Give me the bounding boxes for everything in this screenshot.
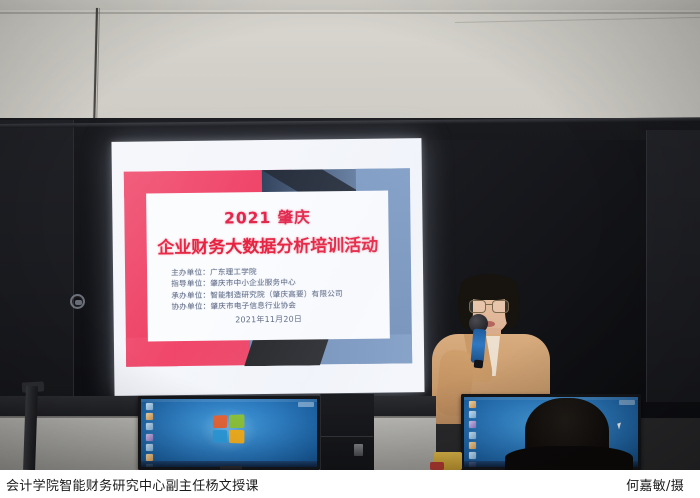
caption-text: 会计学院智能财务研究中心副主任杨文授课 bbox=[6, 475, 259, 494]
cabinet-indicator bbox=[354, 444, 363, 456]
photo-page: 2021 肇庆 企业财务大数据分析培训活动 主办单位：广东理工学院 指导单位：肇… bbox=[0, 0, 700, 498]
projected-slide: 2021 肇庆 企业财务大数据分析培训活动 主办单位：广东理工学院 指导单位：肇… bbox=[111, 138, 424, 396]
glasses-bridge bbox=[485, 304, 493, 305]
seated-attendee-shoulder bbox=[505, 446, 633, 470]
slide-organizer-list: 主办单位：广东理工学院 指导单位：肇庆市中小企业服务中心 承办单位：智能制造研究… bbox=[171, 265, 372, 313]
lecture-hall-photo: 2021 肇庆 企业财务大数据分析培训活动 主办单位：广东理工学院 指导单位：肇… bbox=[0, 0, 700, 470]
slide-title-line-2: 企业财务大数据分析培训活动 bbox=[147, 231, 389, 259]
equipment-cabinet bbox=[320, 394, 374, 470]
slide-title-line-1: 2021 肇庆 bbox=[146, 205, 388, 230]
blackboard-far-right-panel bbox=[646, 130, 700, 402]
organizer-line: 协办单位：肇庆市电子信息行业协会 bbox=[171, 299, 371, 313]
desk-object-red bbox=[430, 462, 444, 470]
slide-date: 2021年11月20日 bbox=[148, 313, 390, 327]
wall-seam bbox=[0, 12, 700, 14]
caption-bar: 会计学院智能财务研究中心副主任杨文授课 何嘉敏/摄 bbox=[0, 470, 700, 498]
monitor-left-bezel bbox=[138, 396, 320, 470]
photo-credit: 何嘉敏/摄 bbox=[626, 475, 694, 494]
wall-badge-icon bbox=[70, 294, 85, 309]
cabinet-shelf-line bbox=[321, 436, 373, 437]
monitor-left[interactable] bbox=[138, 396, 320, 470]
microphone-tip bbox=[474, 360, 484, 369]
slide-content-card: 2021 肇庆 企业财务大数据分析培训活动 主办单位：广东理工学院 指导单位：肇… bbox=[146, 191, 390, 342]
glasses-icon bbox=[469, 300, 509, 311]
blackboard-left-panel bbox=[0, 120, 74, 402]
